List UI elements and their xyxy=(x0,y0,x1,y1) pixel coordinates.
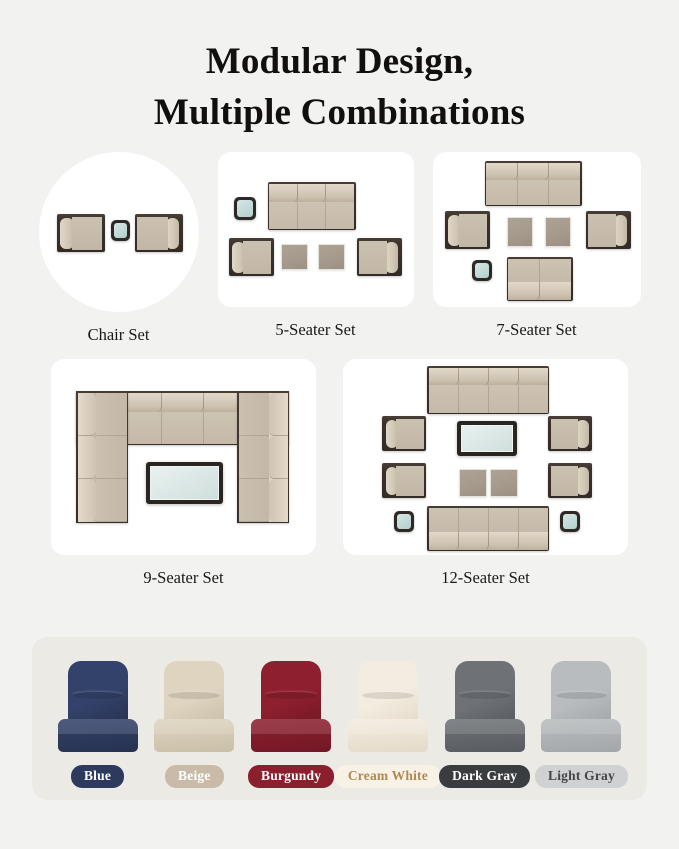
sectional-left-run xyxy=(76,391,128,523)
card-chair-set[interactable] xyxy=(39,152,199,312)
sofa-backrest xyxy=(429,532,548,550)
armchair-back-cushion xyxy=(166,218,180,249)
armchair-seat-cushion xyxy=(551,466,579,496)
sofa-4-seat xyxy=(427,366,549,414)
armchair xyxy=(445,211,490,249)
cushion-backrest xyxy=(164,661,224,725)
loveseat-2-seat xyxy=(507,257,573,301)
cushion-backrest xyxy=(455,661,515,725)
cushion-illustration xyxy=(346,661,430,756)
armchair xyxy=(382,416,426,451)
color-swatch-burgundy[interactable]: Burgundy xyxy=(244,661,339,788)
armchair-seat-cushion xyxy=(72,217,103,250)
armchair xyxy=(229,238,274,276)
color-swatch-beige[interactable]: Beige xyxy=(147,661,242,788)
loveseat-seat-cushions xyxy=(508,259,571,283)
armchair xyxy=(382,463,426,498)
sofa-3-seat xyxy=(268,182,356,230)
sofa-backrest xyxy=(486,163,580,181)
set-caption-9-seater-set: 9-Seater Set xyxy=(143,568,223,588)
cushion-seat xyxy=(154,719,234,752)
ottoman xyxy=(545,217,571,247)
side-table xyxy=(111,220,130,241)
page-title: Modular Design, Multiple Combinations xyxy=(0,0,679,138)
set-caption-12-seater-set: 12-Seater Set xyxy=(441,568,529,588)
sofa-4-seat xyxy=(427,506,549,551)
ottoman xyxy=(507,217,533,247)
sofa-3-seat xyxy=(485,161,582,206)
ottoman xyxy=(459,469,487,497)
armchair-seat-cushion xyxy=(396,419,424,449)
card-7-seater-set[interactable] xyxy=(433,152,641,307)
sectional-seat-cushions xyxy=(96,393,126,522)
card-9-seater-set[interactable] xyxy=(51,359,316,555)
set-caption-5-seater-set: 5-Seater Set xyxy=(275,320,355,340)
set-cell-7-seater-set[interactable]: 7-Seater Set xyxy=(433,152,641,340)
card-12-seater-set[interactable] xyxy=(343,359,628,555)
side-table xyxy=(560,511,580,532)
cushion-illustration xyxy=(152,661,236,756)
sofa-seat-cushions xyxy=(429,508,548,532)
color-label: Blue xyxy=(71,765,124,788)
layout-5-seater-set xyxy=(218,152,414,307)
configuration-row-bottom: 9-Seater Set xyxy=(0,359,679,588)
armchair xyxy=(548,463,592,498)
color-label: Dark Gray xyxy=(439,765,530,788)
cushion-illustration xyxy=(56,661,140,756)
cushion-seat xyxy=(58,719,138,752)
armchair xyxy=(57,214,105,252)
set-cell-12-seater-set[interactable]: 12-Seater Set xyxy=(343,359,628,588)
armchair xyxy=(135,214,183,252)
color-swatch-row: BlueBeigeBurgundyCream WhiteDark GrayLig… xyxy=(32,637,647,800)
cushion-backrest xyxy=(551,661,611,725)
set-caption-chair-set: Chair Set xyxy=(88,325,150,345)
card-5-seater-set[interactable] xyxy=(218,152,414,307)
cushion-illustration xyxy=(443,661,527,756)
sectional-backrest xyxy=(78,393,97,522)
color-label: Light Gray xyxy=(535,765,628,788)
layout-7-seater-set xyxy=(433,152,641,307)
side-table xyxy=(394,511,414,532)
ottoman xyxy=(318,244,345,270)
title-line-1: Modular Design, xyxy=(0,36,679,87)
sectional-backrest xyxy=(269,393,288,522)
armchair-seat-cushion xyxy=(551,419,579,449)
cushion-backrest xyxy=(261,661,321,725)
set-cell-chair-set[interactable]: Chair Set xyxy=(39,152,199,345)
color-swatch-dark-gray[interactable]: Dark Gray xyxy=(437,661,532,788)
armchair-seat-cushion xyxy=(137,217,168,250)
cushion-seat xyxy=(541,719,621,752)
layout-9-seater-set xyxy=(51,359,316,555)
armchair-seat-cushion xyxy=(459,214,487,247)
side-table xyxy=(234,197,256,220)
color-swatch-light-gray[interactable]: Light Gray xyxy=(534,661,629,788)
title-line-2: Multiple Combinations xyxy=(0,87,679,138)
cushion-seat xyxy=(348,719,428,752)
armchair-seat-cushion xyxy=(396,466,424,496)
color-swatch-blue[interactable]: Blue xyxy=(50,661,145,788)
configuration-row-top: Chair Set xyxy=(0,152,679,345)
glass-coffee-table xyxy=(146,462,223,504)
layout-chair-set xyxy=(39,152,199,312)
cushion-illustration xyxy=(249,661,333,756)
color-label: Burgundy xyxy=(248,765,334,788)
cushion-seat xyxy=(445,719,525,752)
color-options-panel: BlueBeigeBurgundyCream WhiteDark GrayLig… xyxy=(32,637,647,800)
color-label: Cream White xyxy=(335,765,441,788)
sectional-seat-cushions xyxy=(239,393,269,522)
cushion-backrest xyxy=(358,661,418,725)
set-cell-5-seater-set[interactable]: 5-Seater Set xyxy=(218,152,414,340)
color-label: Beige xyxy=(165,765,224,788)
set-cell-9-seater-set[interactable]: 9-Seater Set xyxy=(51,359,316,588)
side-table xyxy=(472,260,492,281)
layout-12-seater-set xyxy=(343,359,628,555)
glass-coffee-table xyxy=(457,421,517,456)
sofa-backrest xyxy=(269,184,354,203)
set-caption-7-seater-set: 7-Seater Set xyxy=(496,320,576,340)
armchair-seat-cushion xyxy=(588,214,616,247)
armchair xyxy=(357,238,402,276)
sofa-backrest xyxy=(429,368,548,385)
loveseat-backrest xyxy=(508,282,571,299)
color-swatch-cream-white[interactable]: Cream White xyxy=(340,661,435,788)
ottoman xyxy=(490,469,518,497)
sofa-seat-cushions xyxy=(269,202,354,228)
sectional-right-run xyxy=(237,391,289,523)
armchair-seat-cushion xyxy=(359,241,387,274)
cushion-illustration xyxy=(539,661,623,756)
sofa-seat-cushions xyxy=(486,180,580,204)
cushion-seat xyxy=(251,719,331,752)
sofa-seat-cushions xyxy=(429,385,548,413)
armchair-seat-cushion xyxy=(243,241,271,274)
armchair xyxy=(548,416,592,451)
armchair xyxy=(586,211,631,249)
cushion-backrest xyxy=(68,661,128,725)
ottoman xyxy=(281,244,308,270)
